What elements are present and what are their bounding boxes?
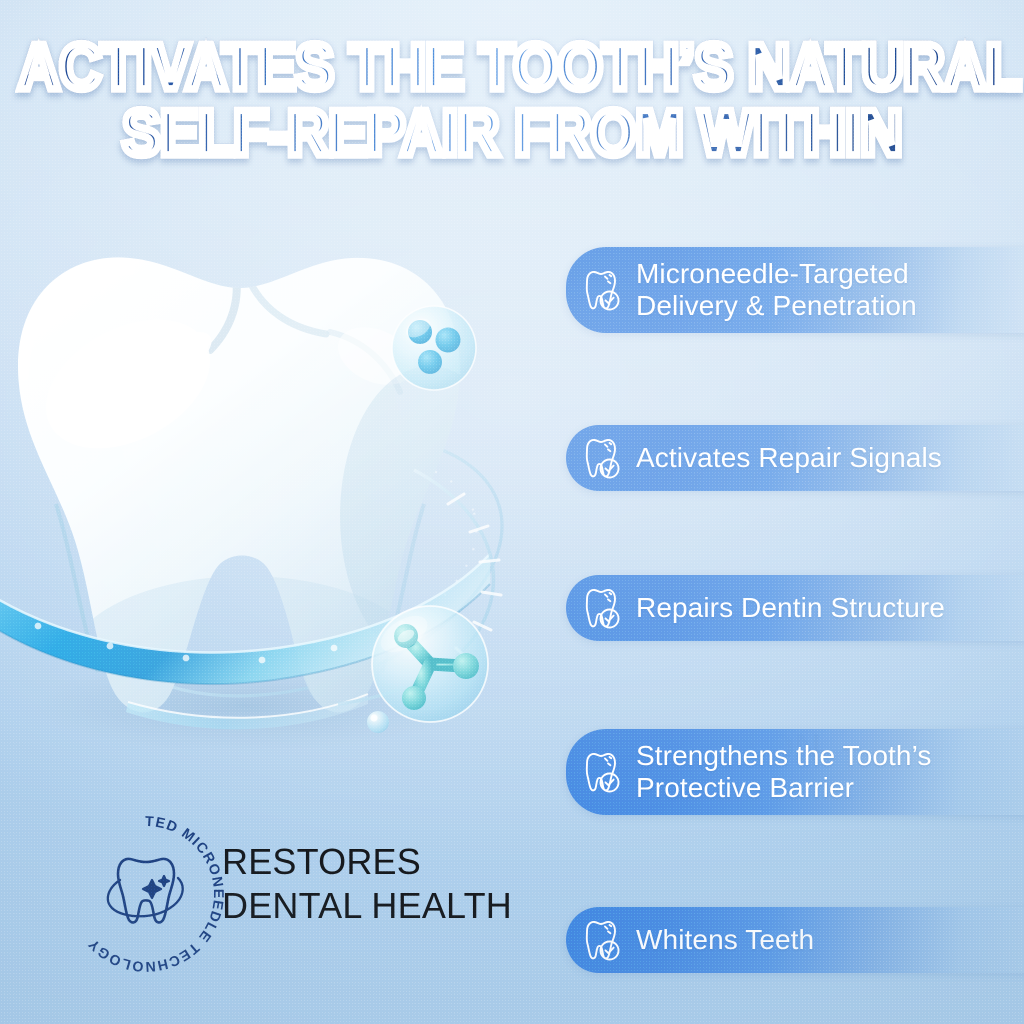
feature-item-delivery[interactable]: DELIVERY Microneedle-Targeted (566, 247, 1024, 387)
droplet (367, 711, 389, 733)
feature-list: DELIVERY Microneedle-Targeted (566, 205, 1024, 1024)
technology-badge: TARGETED MICRONEEDLE TECHNOLOGY (60, 808, 232, 980)
tooth-check-icon (582, 750, 622, 794)
feature-item-whitening[interactable]: WHITENING Whitens Teeth (566, 907, 1024, 1019)
molecule-bubble-small (392, 306, 476, 390)
feature-text-protection: Strengthens the Tooth’s Protective Barri… (636, 740, 931, 804)
feature-pill-delivery[interactable]: Microneedle-Targeted Delivery & Penetrat… (566, 247, 1024, 333)
tooth-illustration (0, 236, 538, 776)
feature-item-protection[interactable]: PROTECTION Strengthens the To (566, 729, 1024, 869)
feature-pill-whitening[interactable]: Whitens Teeth (566, 907, 1024, 973)
feature-text-delivery: Microneedle-Targeted Delivery & Penetrat… (636, 258, 917, 322)
badge-ring-text: TARGETED MICRONEEDLE TECHNOLOGY (60, 808, 226, 974)
feature-item-repair[interactable]: REPAIR Repairs Dentin Structu (566, 575, 1024, 689)
tooth-check-icon (582, 586, 622, 630)
feature-item-activation[interactable]: ACTIVATION Activates Repair S (566, 425, 1024, 537)
restores-caption: RESTORES DENTAL HEALTH (222, 840, 512, 928)
feature-pill-protection[interactable]: Strengthens the Tooth’s Protective Barri… (566, 729, 1024, 815)
tooth-orbit-sparkle-icon (108, 859, 183, 923)
headline: ACTIVATES THE TOOTH’S NATURAL SELF-REPAI… (0, 34, 1024, 159)
molecule-bubble-large (372, 606, 488, 722)
tooth-check-icon (582, 918, 622, 962)
feature-pill-repair[interactable]: Repairs Dentin Structure (566, 575, 1024, 641)
poster-canvas: ACTIVATES THE TOOTH’S NATURAL SELF-REPAI… (0, 0, 1024, 1024)
tooth-check-icon (582, 268, 622, 312)
tooth-check-icon (582, 436, 622, 480)
feature-text-activation: Activates Repair Signals (636, 442, 942, 474)
feature-text-whitening: Whitens Teeth (636, 924, 814, 956)
headline-line-1: ACTIVATES THE TOOTH’S NATURAL (18, 34, 1006, 101)
headline-line-2: SELF-REPAIR FROM WITHIN (18, 100, 1006, 167)
feature-pill-activation[interactable]: Activates Repair Signals (566, 425, 1024, 491)
feature-text-repair: Repairs Dentin Structure (636, 592, 945, 624)
